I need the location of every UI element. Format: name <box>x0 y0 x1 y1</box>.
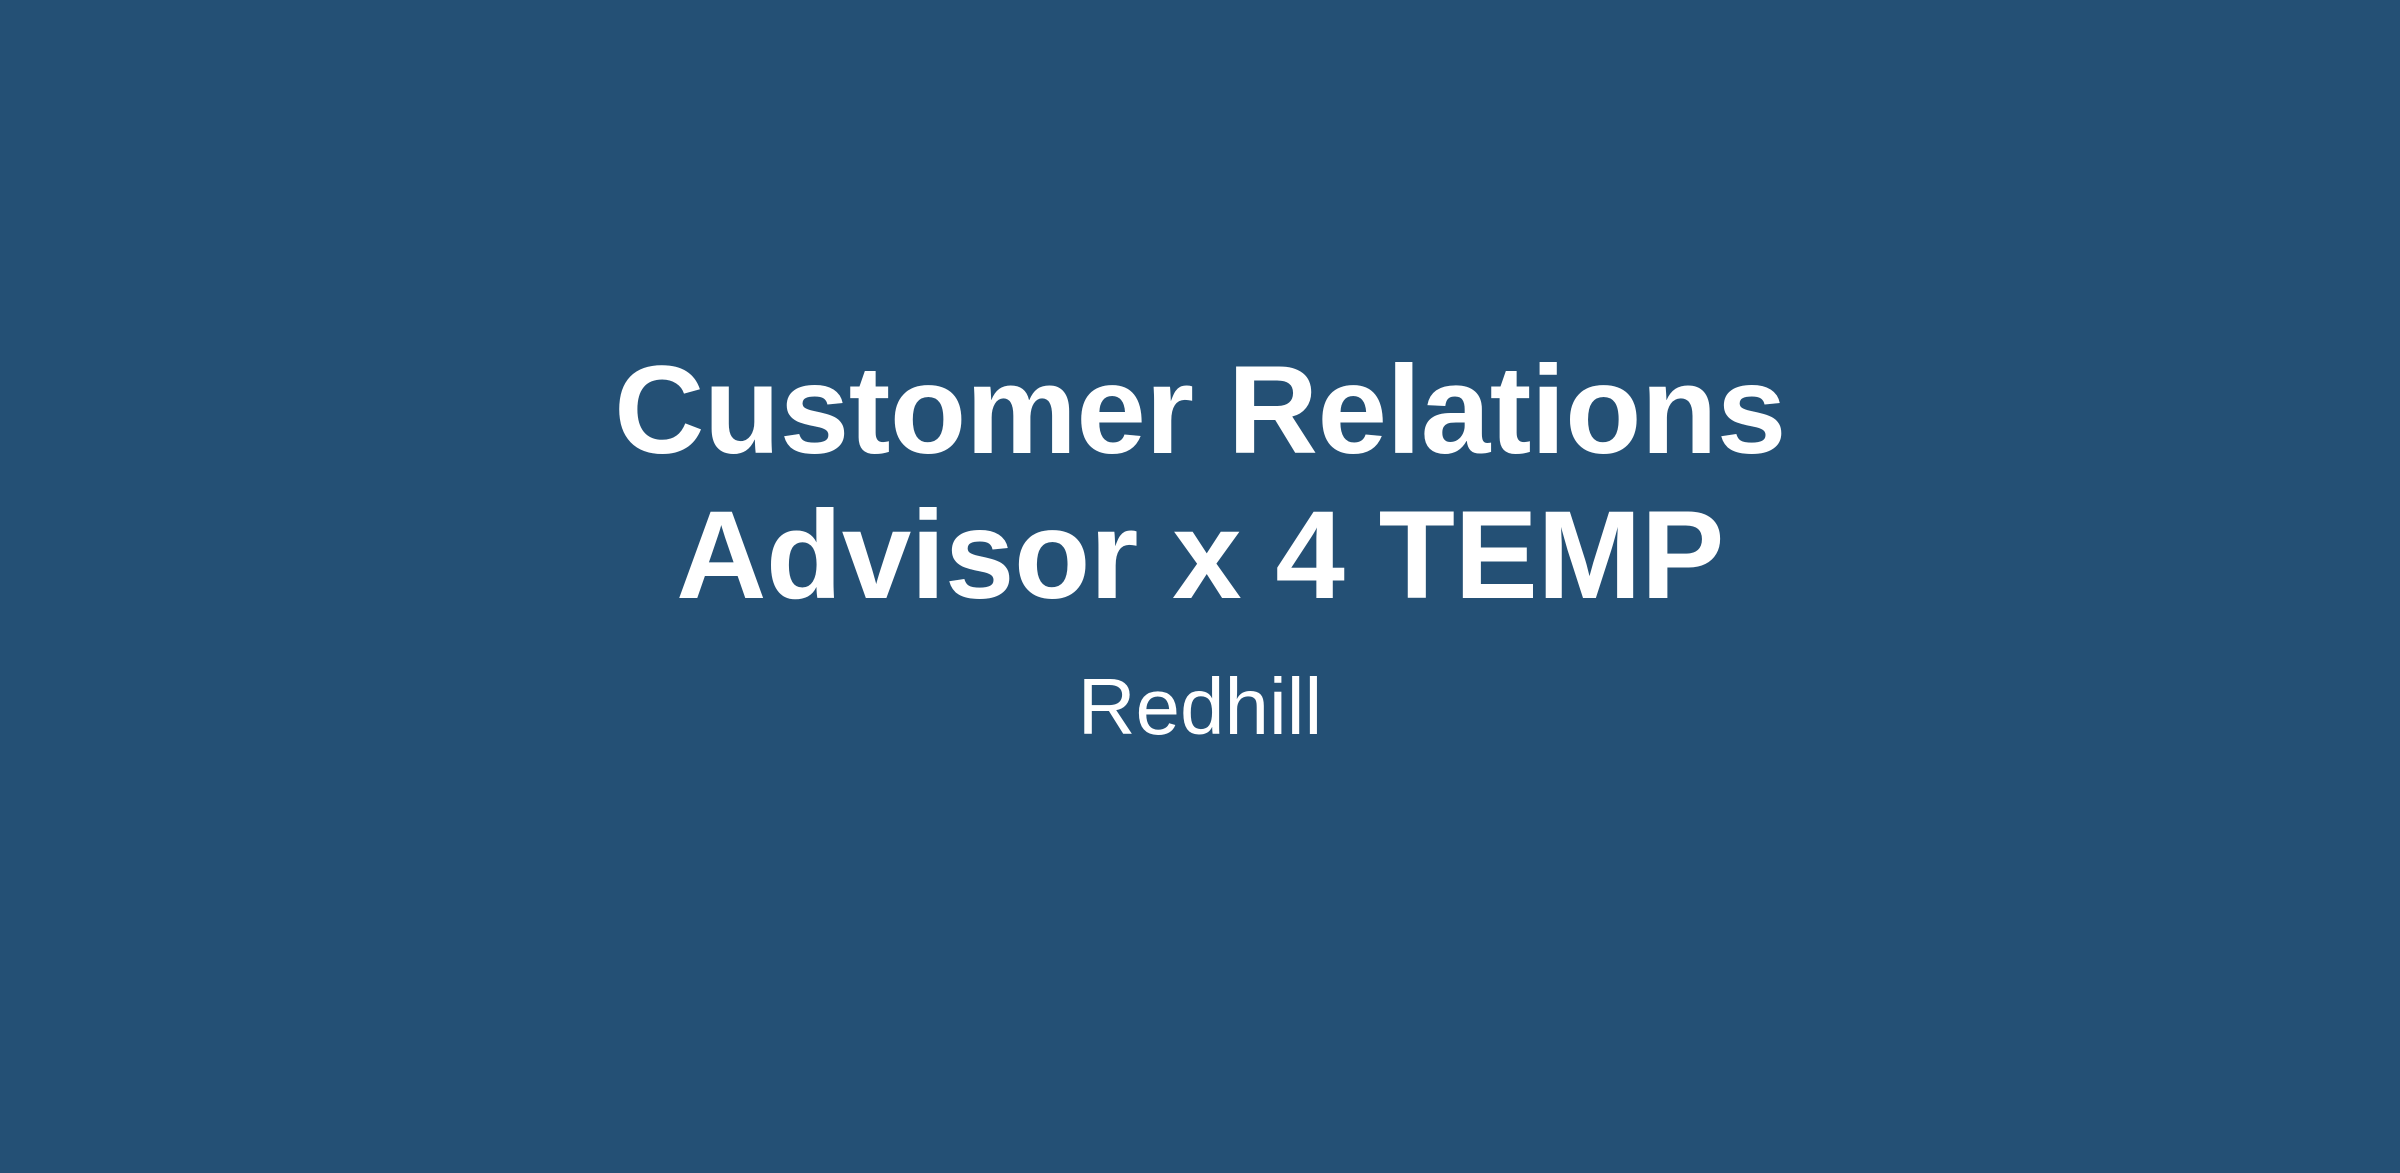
job-listing-banner: Customer Relations Advisor x 4 TEMP Redh… <box>0 0 2400 1173</box>
banner-content: Customer Relations Advisor x 4 TEMP Redh… <box>0 0 2400 754</box>
job-location: Redhill <box>1078 660 1323 754</box>
job-title: Customer Relations Advisor x 4 TEMP <box>370 338 2030 628</box>
